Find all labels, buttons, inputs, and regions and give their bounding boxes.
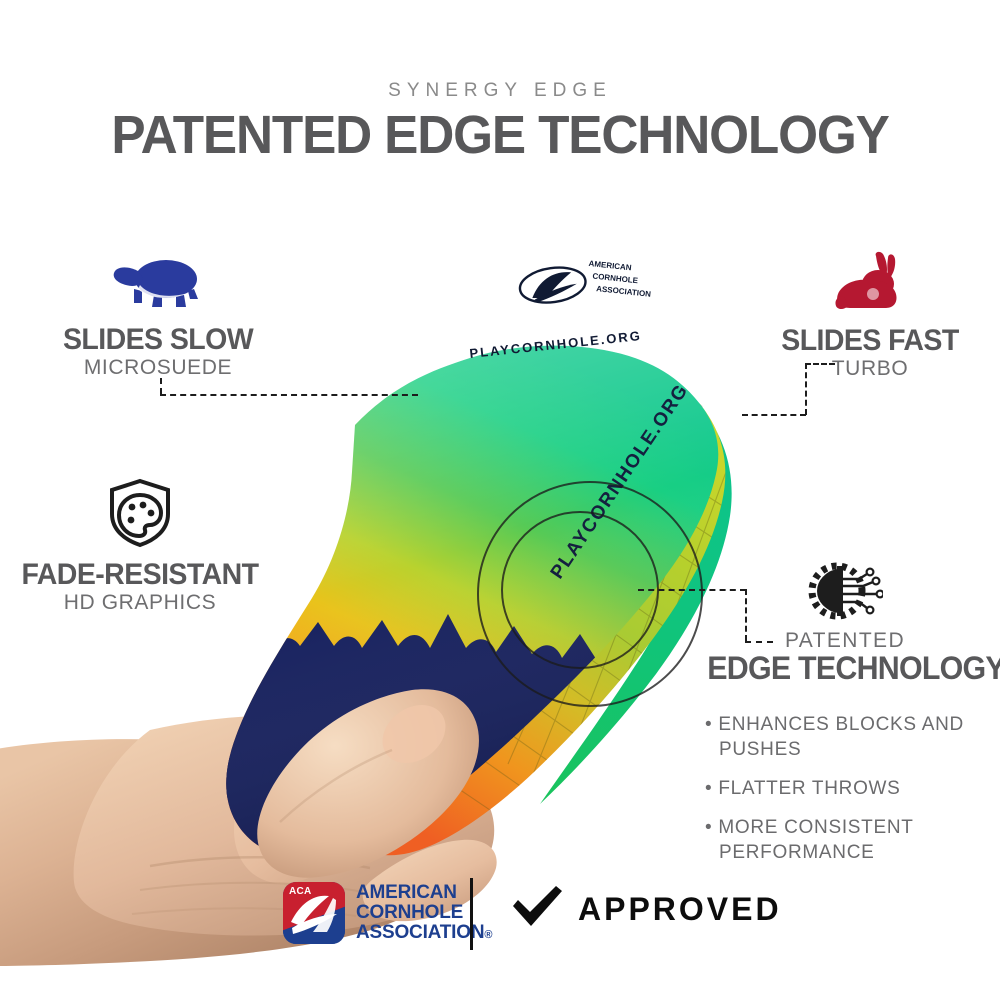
svg-text:AMERICAN: AMERICAN (588, 259, 632, 272)
shield-palette-icon (5, 478, 275, 553)
list-item: MORE CONSISTENT PERFORMANCE (705, 815, 985, 865)
feature-slides-slow: SLIDES SLOW MICROSUEDE (18, 255, 298, 380)
feature-fade-resistant: FADE-RESISTANT HD GRAPHICS (5, 478, 275, 615)
bag-aca-logo: AMERICAN CORNHOLE ASSOCIATION (517, 251, 653, 317)
list-item: FLATTER THROWS (705, 776, 985, 801)
rabbit-icon (740, 250, 1000, 319)
feature-title: SLIDES SLOW (25, 324, 291, 356)
feature-title: FADE-RESISTANT (12, 559, 269, 591)
feature-title-small: PATENTED (700, 629, 990, 652)
footer-bar: ACA AMERICAN CORNHOLE ASSOCIATION® APPRO… (0, 878, 1000, 958)
feature-patented-edge: PATENTED EDGE TECHNOLOGY (700, 562, 990, 686)
svg-text:ASSOCIATION: ASSOCIATION (596, 284, 652, 299)
footer-divider (470, 878, 473, 950)
aca-badge-icon: ACA (283, 882, 345, 944)
connector-slow-stub (160, 378, 162, 394)
benefit-list: ENHANCES BLOCKS AND PUSHES FLATTER THROW… (705, 712, 985, 879)
feature-title-big: EDGE TECHNOLOGY (707, 652, 983, 686)
connector-fast-bottom (742, 414, 806, 416)
svg-text:CORNHOLE: CORNHOLE (592, 272, 639, 286)
gear-circuit-icon (700, 562, 990, 625)
feature-slides-fast: SLIDES FAST TURBO (740, 250, 1000, 381)
connector-slow-line (160, 394, 418, 396)
aca-badge-text: ACA (289, 887, 312, 897)
list-item: ENHANCES BLOCKS AND PUSHES (705, 712, 985, 762)
registered-mark: ® (484, 929, 492, 941)
feature-title: SLIDES FAST (747, 325, 994, 357)
aca-line-3: ASSOCIATION (356, 922, 484, 943)
approved-label: APPROVED (578, 891, 782, 928)
feature-subtitle: TURBO (740, 357, 1000, 381)
checkmark-icon (510, 886, 564, 933)
aca-logo-lockup: ACA AMERICAN CORNHOLE ASSOCIATION® (283, 882, 492, 944)
feature-subtitle: MICROSUEDE (18, 356, 298, 380)
eyebrow-text: SYNERGY EDGE (0, 80, 1000, 102)
page-title: PATENTED EDGE TECHNOLOGY (25, 104, 975, 166)
feature-subtitle: HD GRAPHICS (5, 591, 275, 615)
infographic-canvas: SYNERGY EDGE PATENTED EDGE TECHNOLOGY (0, 0, 1000, 1000)
approved-badge: APPROVED (510, 886, 782, 933)
turtle-icon (18, 255, 298, 318)
